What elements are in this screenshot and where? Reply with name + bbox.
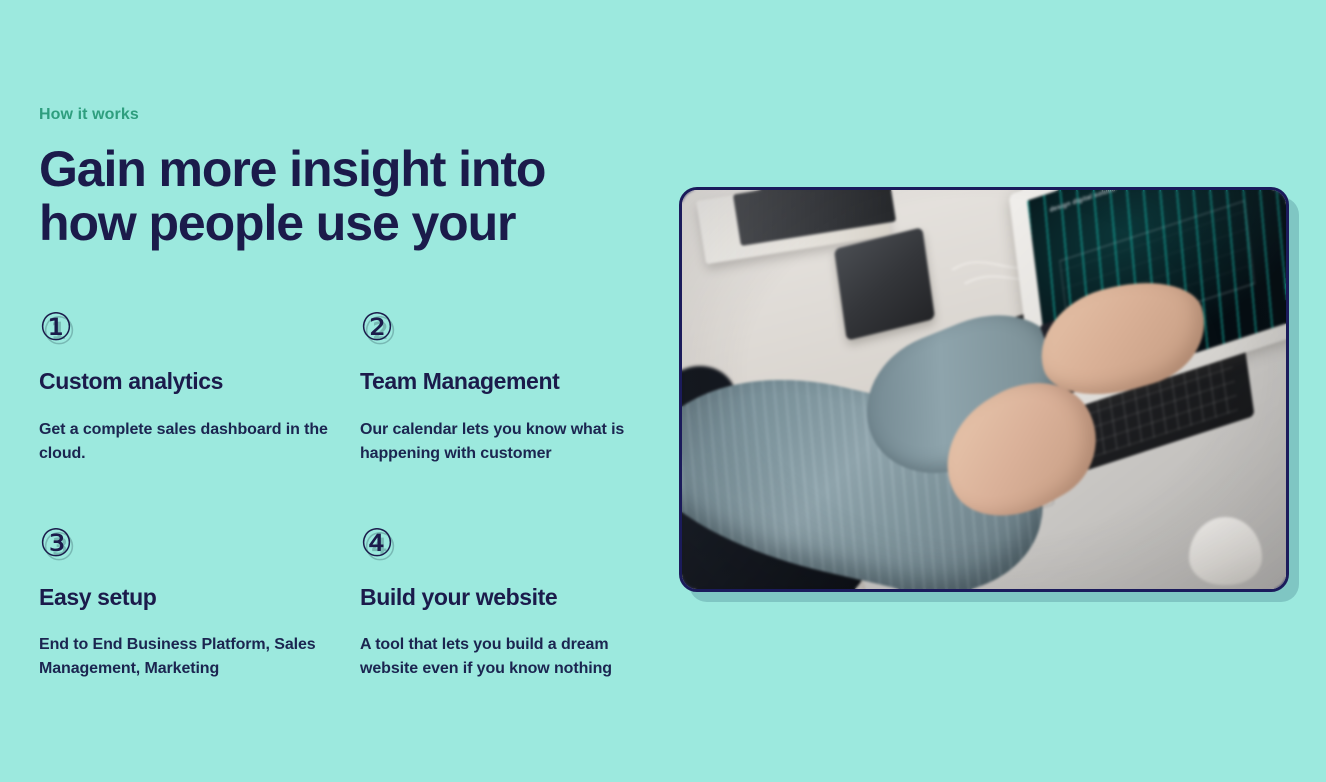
feature-description: Our calendar lets you know what is happe…	[360, 418, 650, 466]
feature-description: End to End Business Platform, Sales Mana…	[39, 633, 329, 681]
feature-item-build-your-website: ④ Build your website A tool that lets yo…	[360, 524, 650, 682]
hero-image-container: design digital solutions for big custome…	[679, 187, 1289, 592]
feature-item-easy-setup: ③ Easy setup End to End Business Platfor…	[39, 524, 329, 682]
how-it-works-section: How it works Gain more insight into how …	[0, 0, 1326, 782]
feature-description: A tool that lets you build a dream websi…	[360, 633, 650, 681]
section-text-block: How it works Gain more insight into how …	[39, 105, 639, 250]
feature-title: Team Management	[360, 368, 650, 396]
feature-title: Build your website	[360, 584, 650, 612]
number-badge-1-icon: ①	[39, 308, 329, 354]
hero-image: design digital solutions for big custome…	[682, 190, 1286, 589]
hero-image-frame: design digital solutions for big custome…	[679, 187, 1289, 592]
feature-title: Custom analytics	[39, 368, 329, 396]
section-eyebrow: How it works	[39, 105, 639, 124]
feature-description: Get a complete sales dashboard in the cl…	[39, 418, 329, 466]
feature-item-custom-analytics: ① Custom analytics Get a complete sales …	[39, 308, 329, 466]
page-title: Gain more insight into how people use yo…	[39, 142, 579, 250]
number-badge-2-icon: ②	[360, 308, 650, 354]
number-badge-4-icon: ④	[360, 524, 650, 570]
number-badge-3-icon: ③	[39, 524, 329, 570]
feature-grid: ① Custom analytics Get a complete sales …	[39, 308, 659, 681]
headline-line-2: how people use your	[39, 196, 579, 250]
feature-item-team-management: ② Team Management Our calendar lets you …	[360, 308, 650, 466]
headline-line-1: Gain more insight into	[39, 142, 579, 196]
feature-title: Easy setup	[39, 584, 329, 612]
